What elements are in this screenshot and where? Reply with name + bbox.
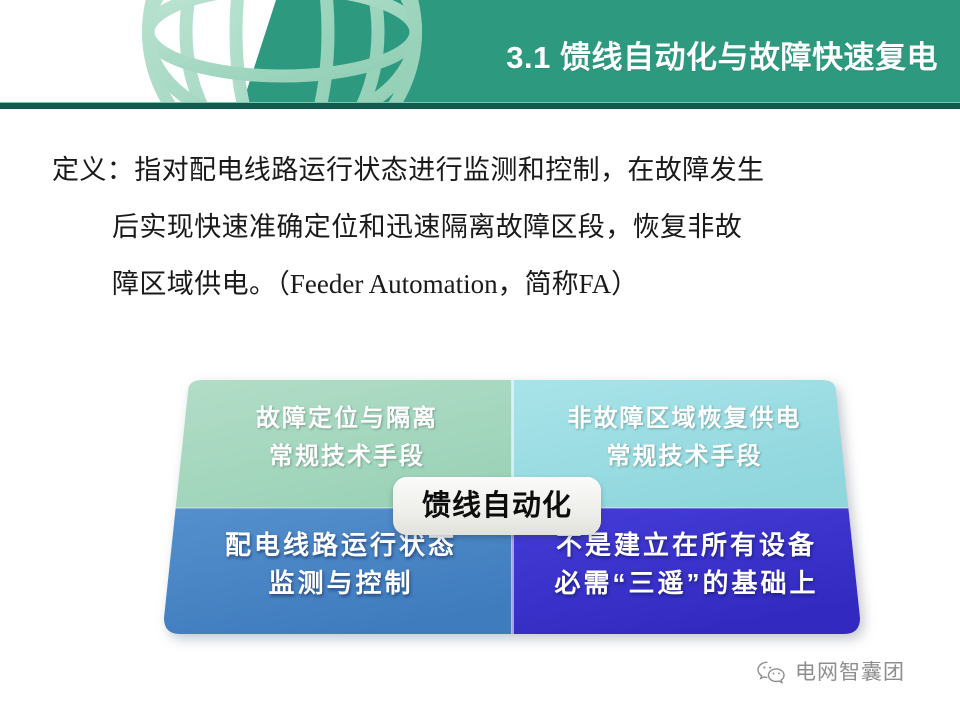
center-badge: 馈线自动化 [393,477,601,535]
definition-latin-note: （Feeder Automation，简称FA） [276,269,638,299]
definition-line-3-cn: 障区域供电。 [112,269,276,299]
feeder-automation-diagram: 故障定位与隔离 常规技术手段 非故障区域恢复供电 常规技术手段 配电线路运行状态… [162,378,862,636]
page-title: 3.1 馈线自动化与故障快速复电 [506,42,938,73]
definition-line-1: 定义：指对配电线路运行状态进行监测和控制，在故障发生 [52,142,932,199]
definition-line-2: 后实现快速准确定位和迅速隔离故障区段，恢复非故 [52,199,932,256]
footer-watermark: 电网智囊团 [756,660,905,685]
definition-line-3: 障区域供电。（Feeder Automation，简称FA） [52,256,932,313]
header-divider-rule [0,102,960,109]
center-badge-label: 馈线自动化 [422,492,572,521]
wechat-icon [756,660,786,685]
definition-text: 定义：指对配电线路运行状态进行监测和控制，在故障发生 后实现快速准确定位和迅速隔… [52,142,932,313]
slide-header: 3.1 馈线自动化与故障快速复电 [0,0,960,102]
footer-watermark-text: 电网智囊团 [795,662,905,683]
